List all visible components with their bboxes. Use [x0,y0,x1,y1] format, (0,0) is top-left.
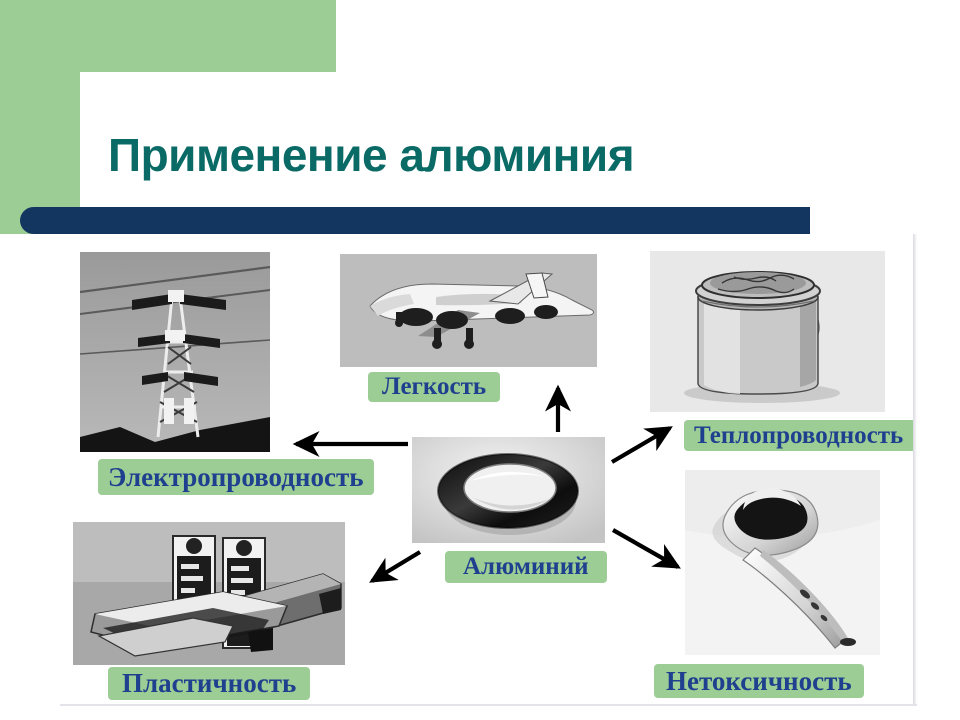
metal-mug-photo [650,251,885,412]
airplane-photo [340,254,597,367]
label-netoksichnost: Нетоксичность [654,664,864,698]
aluminium-ring-photo [412,437,605,543]
label-elektroprovodnost: Электропроводность [98,459,374,495]
panel-shadow-edge [913,234,917,704]
slide: Применение алюминия [0,0,960,720]
power-tower-photo [80,252,270,452]
label-teploprovodnost: Теплопроводность [684,420,913,451]
spoon-photo [685,470,880,655]
label-legkost: Легкость [368,372,500,402]
decor-navy-bar [20,207,810,234]
slide-title: Применение алюминия [108,128,928,182]
decor-green-block [0,0,336,72]
aluminium-profiles-photo [73,522,345,665]
label-alyuminiy: Алюминий [445,551,607,583]
label-plastichnost: Пластичность [108,667,310,700]
